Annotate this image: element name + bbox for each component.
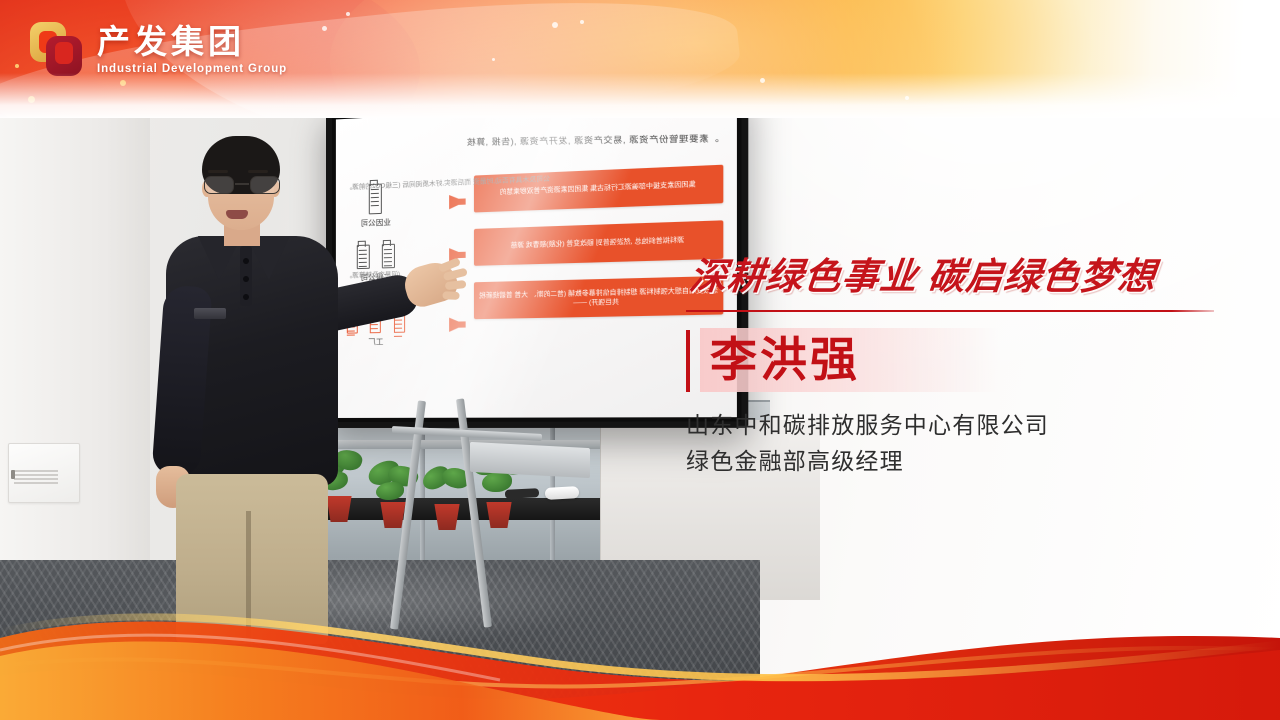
speaker-name: 李洪强 — [710, 338, 860, 385]
affiliation-title: 绿色金融部高级经理 — [686, 444, 1226, 480]
brand-logo[interactable]: 产发集团 Industrial Development Group — [30, 22, 287, 78]
brand-name-cn: 产发集团 — [97, 25, 287, 58]
speaker-affiliation: 山东中和碳排放服务中心有限公司 绿色金融部高级经理 — [686, 408, 1226, 479]
potted-plant — [472, 470, 530, 528]
title-card-stage: 。素要理管份产资源 ,易交产资源 ,发开产资源 ,(告报 ,算核 集团因素支援中… — [0, 0, 1280, 720]
bottom-ribbon-decoration — [0, 580, 1280, 720]
screen-glare — [336, 98, 685, 418]
slide-screen: 。素要理管份产资源 ,易交产资源 ,发开产资源 ,(告报 ,算核 集团因素支援中… — [336, 98, 737, 418]
brand-logo-text: 产发集团 Industrial Development Group — [97, 25, 287, 76]
speaker-name-row: 李洪强 — [686, 328, 1226, 394]
top-brand-banner: 产发集团 Industrial Development Group — [0, 0, 1280, 118]
presentation-display: 。素要理管份产资源 ,易交产资源 ,发开产资源 ,(告报 ,算核 集团因素支援中… — [326, 86, 748, 428]
program-headline: 深耕绿色事业 碳启绿色梦想 — [687, 246, 1229, 300]
remote-control — [505, 488, 539, 499]
speaker-person — [150, 136, 380, 636]
headline-divider — [686, 310, 1214, 312]
glasses-icon — [204, 176, 280, 194]
chanfa-group-logo-mark-icon — [30, 22, 84, 78]
chest-badge — [194, 308, 226, 319]
affiliation-company: 山东中和碳排放服务中心有限公司 — [686, 408, 1226, 444]
whiteboard-marker — [545, 486, 580, 500]
speaker-info-panel: 深耕绿色事业 碳启绿色梦想 李洪强 山东中和碳排放服务中心有限公司 绿色金融部高… — [686, 246, 1226, 479]
banner-bottom-fade — [0, 73, 1280, 118]
name-accent-bar — [686, 330, 690, 392]
potted-plant — [424, 482, 472, 530]
wall-control-panel — [8, 443, 80, 503]
mouth — [226, 210, 248, 219]
display-stand-tray — [470, 442, 590, 478]
